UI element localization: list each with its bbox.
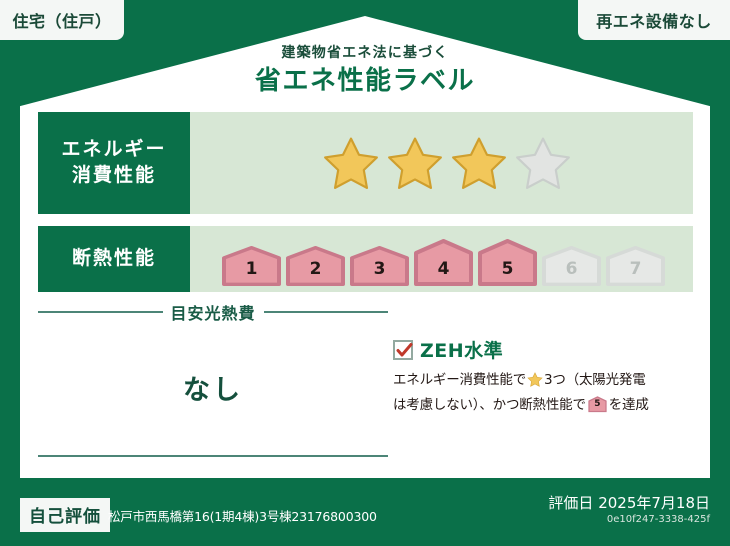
star-rating	[322, 135, 572, 191]
rule-right	[264, 311, 389, 313]
building-name: 松戸市西馬橋第16(1期4棟)3号棟23176800300	[108, 506, 377, 525]
insulation-level-scale: 1234567	[221, 226, 666, 292]
star-filled-icon	[386, 135, 444, 191]
page-title: 省エネ性能ラベル	[0, 64, 730, 99]
housing-type-tag: 住宅（住戸）	[0, 0, 124, 40]
rule-left	[38, 311, 163, 313]
zeh-title: ZEH水準	[420, 336, 503, 363]
zeh-desc-part3: を達成	[609, 397, 649, 413]
check-icon	[396, 342, 413, 359]
insulation-level-5: 5	[477, 239, 538, 286]
insulation-label: 断熱性能	[72, 246, 156, 272]
small-star-icon	[527, 372, 543, 395]
energy-performance-value	[190, 112, 693, 214]
insulation-performance-row: 断熱性能 1234567	[38, 226, 693, 292]
zeh-section: ZEH水準 エネルギー消費性能で3つ（太陽光発電は考慮しない）、かつ断熱性能で5…	[393, 336, 693, 417]
insulation-level-number: 6	[541, 259, 602, 279]
insulation-level-2: 2	[285, 246, 346, 286]
energy-performance-row: エネルギー 消費性能	[38, 112, 693, 214]
insulation-level-4: 4	[413, 239, 474, 286]
star-filled-icon	[322, 135, 380, 191]
small-house-icon: 5	[588, 396, 607, 413]
star-empty-icon	[514, 135, 572, 191]
evaluation-id: 0e10f247-3338-425f	[607, 514, 710, 525]
insulation-level-number: 7	[605, 259, 666, 279]
insulation-level-6: 6	[541, 246, 602, 286]
zeh-desc-part2: は考慮しない）、かつ断熱性能で	[393, 397, 586, 413]
insulation-performance-value: 1234567	[190, 226, 693, 292]
insulation-level-number: 5	[477, 259, 538, 279]
label-subtitle: 建築物省エネ法に基づく	[0, 44, 730, 62]
utility-cost-heading-row: 目安光熱費	[38, 300, 388, 324]
insulation-level-7: 7	[605, 246, 666, 286]
energy-performance-label-box: エネルギー 消費性能	[38, 112, 190, 214]
star-filled-icon	[450, 135, 508, 191]
small-house-number: 5	[588, 397, 607, 412]
zeh-checkbox	[393, 340, 413, 360]
insulation-level-number: 4	[413, 259, 474, 279]
insulation-level-number: 2	[285, 259, 346, 279]
utility-cost-section: 目安光熱費 なし	[38, 300, 388, 457]
insulation-level-number: 3	[349, 259, 410, 279]
energy-label-line2: 消費性能	[72, 163, 156, 189]
self-evaluation-badge: 自己評価	[20, 498, 110, 532]
utility-cost-bottom-rule	[38, 455, 388, 457]
zeh-desc-stars: 3つ（太陽光発電	[544, 372, 646, 388]
insulation-level-3: 3	[349, 246, 410, 286]
insulation-level-1: 1	[221, 246, 282, 286]
evaluation-date: 評価日 2025年7月18日	[548, 492, 710, 513]
energy-performance-label: 住宅（住戸） 再エネ設備なし 建築物省エネ法に基づく 省エネ性能ラベル エネルギ…	[0, 0, 730, 546]
utility-cost-heading: 目安光熱費	[171, 300, 256, 324]
insulation-performance-label-box: 断熱性能	[38, 226, 190, 292]
zeh-desc-part1: エネルギー消費性能で	[393, 372, 526, 388]
footer: 自己評価 松戸市西馬橋第16(1期4棟)3号棟23176800300 評価日 2…	[0, 482, 730, 546]
zeh-title-row: ZEH水準	[393, 336, 693, 363]
insulation-level-number: 1	[221, 259, 282, 279]
energy-label-line1: エネルギー	[61, 137, 166, 163]
renewable-energy-tag: 再エネ設備なし	[578, 0, 730, 40]
label-heading: 建築物省エネ法に基づく 省エネ性能ラベル	[0, 44, 730, 99]
zeh-description: エネルギー消費性能で3つ（太陽光発電は考慮しない）、かつ断熱性能で5を達成	[393, 370, 693, 417]
utility-cost-value: なし	[38, 368, 388, 407]
